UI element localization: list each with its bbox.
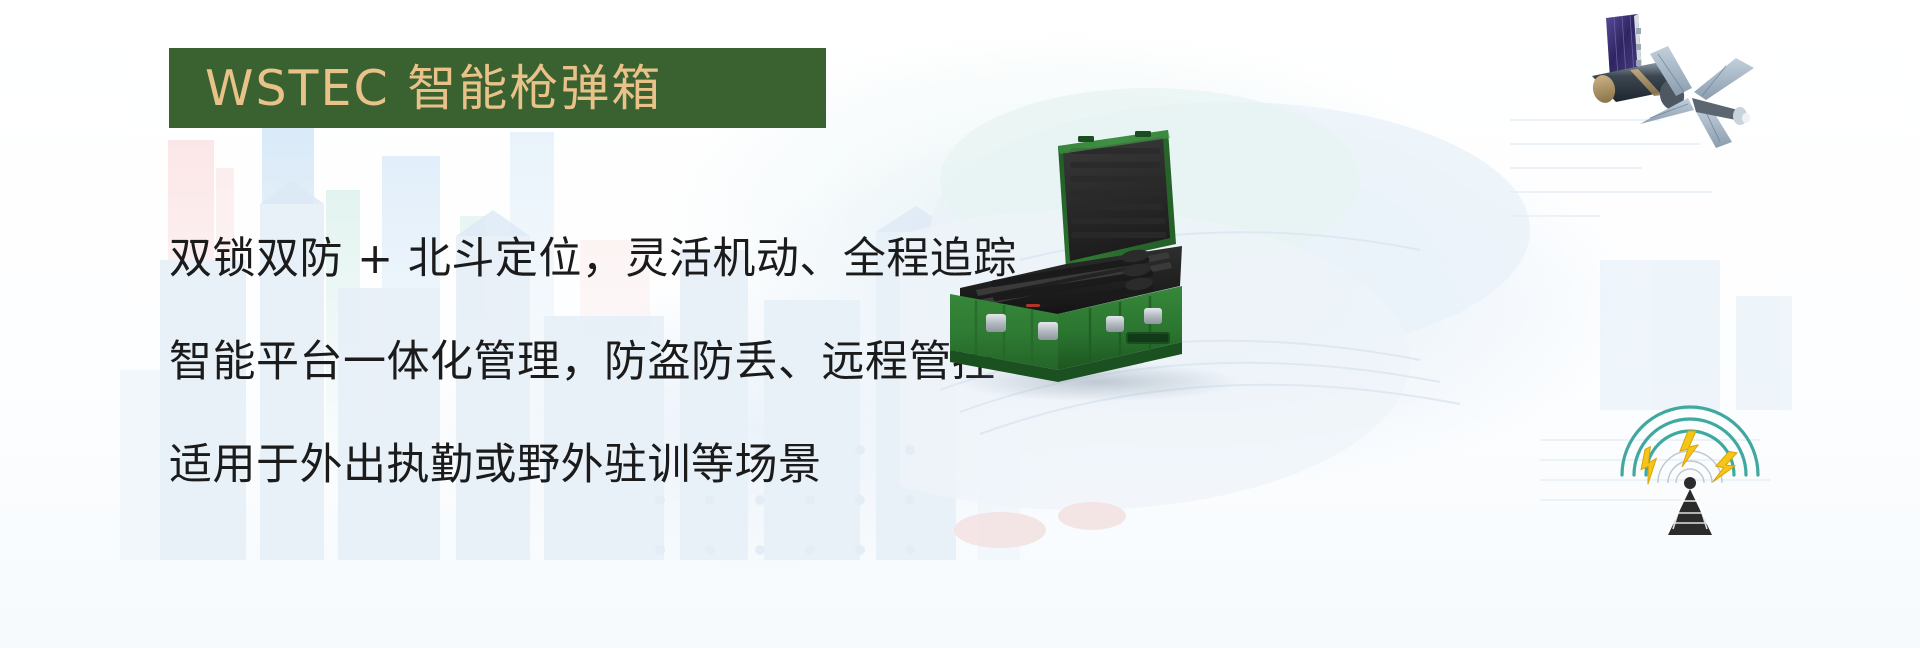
promo-banner: WSTEC 智能枪弹箱 双锁双防 + 北斗定位，灵活机动、全程追踪 智能平台一体… [0, 0, 1920, 648]
product-case-image [930, 118, 1260, 408]
page-title: WSTEC 智能枪弹箱 [169, 64, 662, 113]
case-lid [1058, 130, 1176, 268]
satellite-svg [1588, 2, 1798, 162]
signal-tower-icon [1600, 355, 1780, 535]
copy-line-3: 适用于外出执勤或野外驻训等场景 [169, 444, 1129, 487]
case-indicator-stripe [1026, 304, 1040, 307]
satellite-antenna-wings [1640, 46, 1754, 148]
satellite-nose-cone [1692, 98, 1750, 125]
hard-case-svg [930, 118, 1260, 408]
tower-svg [1600, 355, 1780, 535]
satellite-icon [1588, 2, 1798, 162]
case-handle-recess [1126, 332, 1170, 344]
title-banner: WSTEC 智能枪弹箱 [169, 48, 826, 128]
tower-structure [1668, 477, 1712, 535]
